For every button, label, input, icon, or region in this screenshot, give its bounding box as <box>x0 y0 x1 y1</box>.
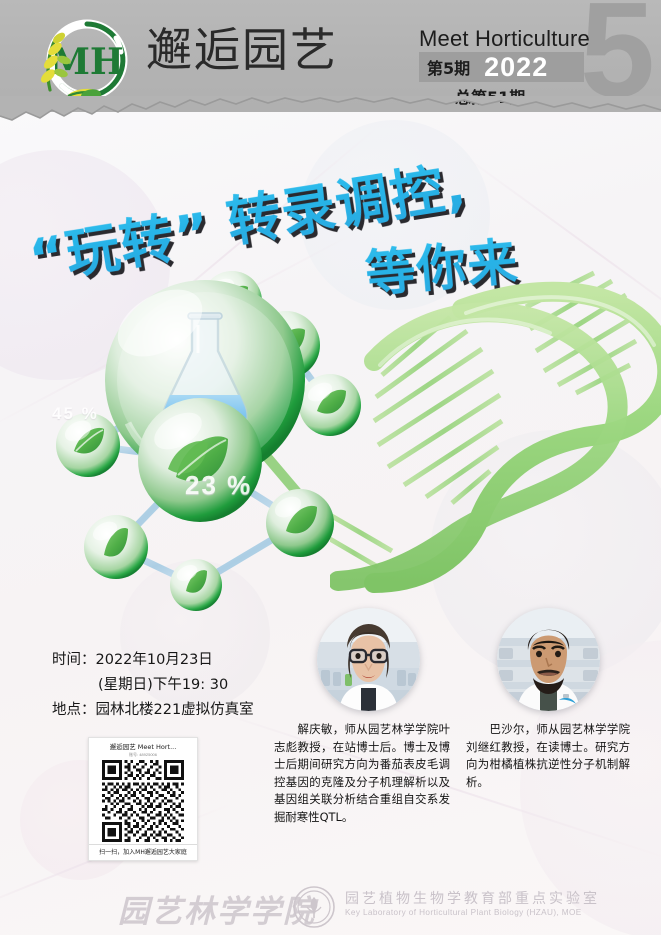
sphere-medium-right <box>299 374 361 436</box>
speaker-bio-2: 巴沙尔，师从园艺林学学院刘继红教授，在读博士。研究方向为柑橘植株抗逆性分子机制解… <box>466 721 630 791</box>
poster-footer: 园艺林学学院 园艺植物生物学教育部重点实验室 Key Laboratory of… <box>0 880 661 935</box>
event-place-row: 地点：园林北楼221虚拟仿真室 <box>52 698 254 723</box>
lab-name-en: Key Laboratory of Horticultural Plant Bi… <box>345 908 582 917</box>
issue-badge: 第5期 2022 <box>419 52 584 82</box>
speaker-card-2: 巴沙尔，师从园艺林学学院刘继红教授，在读博士。研究方向为柑橘植株抗逆性分子机制解… <box>470 608 630 791</box>
qr-caption: 扫一扫，加入MH邂逅园艺大家庭 <box>89 844 197 856</box>
event-place-value: 园林北楼221虚拟仿真室 <box>96 702 254 718</box>
watermark-percent-1: 45 % <box>52 404 99 424</box>
college-logo-text: 园艺林学学院 <box>118 886 316 931</box>
event-place-label: 地点： <box>52 702 96 718</box>
sphere-medium-lowerleft <box>138 398 262 522</box>
event-time-row-2: (星期日)下午19: 30 <box>52 673 254 698</box>
sphere-small-bottomright <box>266 489 334 557</box>
qr-code-image <box>102 760 184 842</box>
lab-seal-icon <box>293 886 335 928</box>
lab-name-cn: 园艺植物生物学教育部重点实验室 <box>345 888 600 908</box>
mh-logo-icon: MH <box>28 16 146 104</box>
issue-number: 第5期 <box>419 55 470 79</box>
event-time-value: 2022年10月23日 <box>96 652 213 668</box>
speaker-card-1: 解庆敏，师从园艺林学学院叶志彪教授，在站博士后。博士及博士后期间研究方向为番茄表… <box>290 608 450 827</box>
event-time-label: 时间： <box>52 652 96 668</box>
qr-account-title: 邂逅园艺 Meet Hort... <box>110 741 177 751</box>
brand-title-cn: 邂逅园艺 <box>146 27 338 73</box>
event-info: 时间：2022年10月23日 (星期日)下午19: 30 地点：园林北楼221虚… <box>52 648 254 723</box>
torn-paper-edge <box>0 96 661 134</box>
sphere-small-bottomcenter <box>170 559 222 611</box>
poster-root: 5 MH <box>0 0 661 935</box>
event-time-value2: (星期日)下午19: 30 <box>98 677 228 693</box>
sphere-small-bottomleft <box>84 515 148 579</box>
molecule-graphic <box>0 255 400 615</box>
qr-account-id: 账号: 48925006 <box>129 752 157 758</box>
speaker-photo-2 <box>497 608 600 711</box>
event-time-row: 时间：2022年10月23日 <box>52 648 254 673</box>
brand-title-en: Meet Horticulture <box>419 26 590 52</box>
speaker-photo-1 <box>317 608 420 711</box>
watermark-percent-2: 23 % <box>185 470 252 501</box>
issue-year: 2022 <box>484 52 548 83</box>
qr-code-card[interactable]: 邂逅园艺 Meet Hort... 账号: 48925006 <box>88 737 198 861</box>
speaker-bio-1: 解庆敏，师从园艺林学学院叶志彪教授，在站博士后。博士及博士后期间研究方向为番茄表… <box>274 721 450 827</box>
